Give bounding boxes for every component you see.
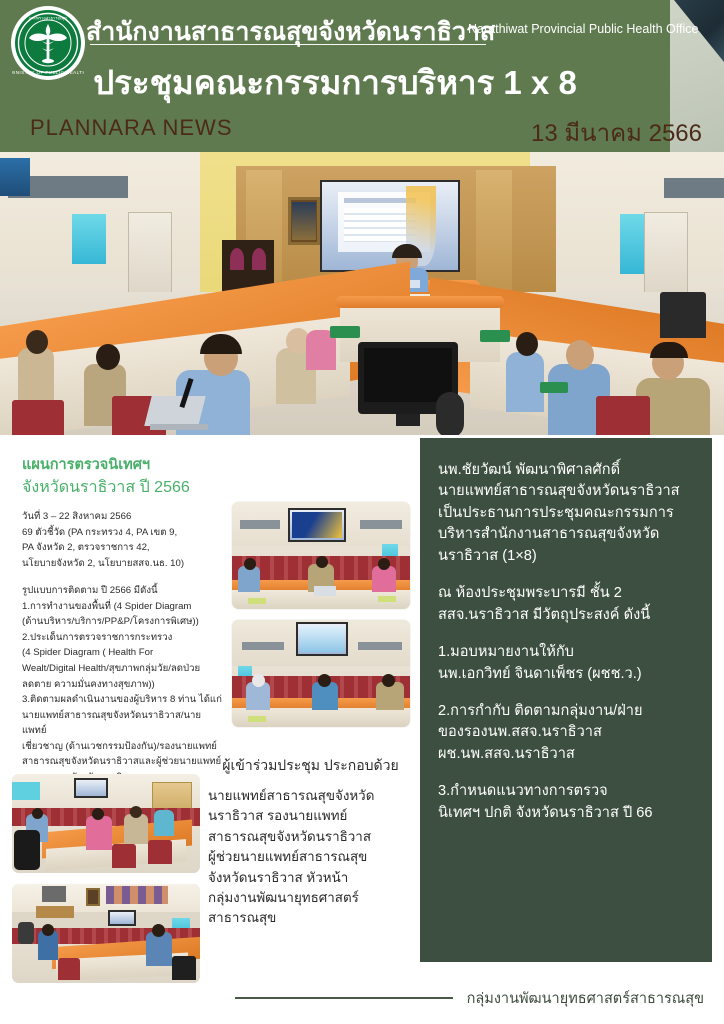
summary-paragraph-2: ณ ห้องประชุมพระบารมี ชั้น 2 สสจ.นราธิวาส… — [438, 583, 696, 626]
organization-name-thai: สำนักงานสาธารณสุขจังหวัดนราธิวาส — [86, 12, 495, 52]
header-divider — [90, 44, 486, 45]
summary-panel: นพ.ชัยวัฒน์ พัฒนาพิศาลศักดิ์ นายแพทย์สาธ… — [420, 438, 712, 962]
plan-section: แผนการตรวจนิเทศฯ จังหวัดนราธิวาส ปี 2566… — [22, 455, 222, 785]
meeting-photo-thumbnail-2 — [232, 620, 410, 727]
footer: กลุ่มงานพัฒนายุทธศาสตร์สาธารณสุข — [0, 986, 724, 1010]
footer-divider — [235, 997, 453, 999]
organization-name-english: Narathiwat Provincial Public Health Offi… — [468, 22, 698, 36]
summary-paragraph-3: 1.มอบหมายงานให้กับ นพ.เอกวิทย์ จินดาเพ็ช… — [438, 642, 696, 685]
participants-section: ผู้เข้าร่วมประชุม ประกอบด้วย นายแพทย์สาธ… — [208, 755, 413, 929]
plan-details-block-2: รูปแบบการติดตาม ปี 2566 มีดังนี้ 1.การทำ… — [22, 583, 222, 785]
footer-department: กลุ่มงานพัฒนายุทธศาสตร์สาธารณสุข — [467, 987, 704, 1010]
hero-photo — [0, 152, 724, 435]
meeting-photo-thumbnail-4 — [12, 884, 200, 983]
summary-paragraph-1: นพ.ชัยวัฒน์ พัฒนาพิศาลศักดิ์ นายแพทย์สาธ… — [438, 460, 696, 567]
participants-heading: ผู้เข้าร่วมประชุม ประกอบด้วย — [208, 755, 413, 777]
meeting-photo-thumbnail-1 — [232, 502, 410, 609]
plan-details-block-1: วันที่ 3 – 22 สิงหาคม 2566 69 ตัวชี้วัด … — [22, 509, 222, 571]
plan-title-line1: แผนการตรวจนิเทศฯ — [22, 455, 222, 476]
meeting-photo-thumbnail-3 — [12, 774, 200, 873]
news-poster: กระทรวงสาธารณสุข MINISTRY OF PUBLIC HEAL… — [0, 0, 724, 1024]
page-title: ประชุมคณะกรรมการบริหาร 1 x 8 — [0, 56, 670, 109]
summary-paragraph-4: 2.การกำกับ ติดตามกลุ่มงาน/ฝ่าย ของรองนพ.… — [438, 701, 696, 765]
brand-label: PLANNARA NEWS — [30, 115, 233, 141]
publication-date: 13 มีนาคม 2566 — [531, 113, 702, 152]
plan-title-line2: จังหวัดนราธิวาส ปี 2566 — [22, 476, 222, 499]
participants-list: นายแพทย์สาธารณสุขจังหวัด นราธิวาส รองนาย… — [208, 786, 413, 929]
summary-paragraph-5: 3.กำหนดแนวทางการตรวจ นิเทศฯ ปกติ จังหวัด… — [438, 781, 696, 824]
